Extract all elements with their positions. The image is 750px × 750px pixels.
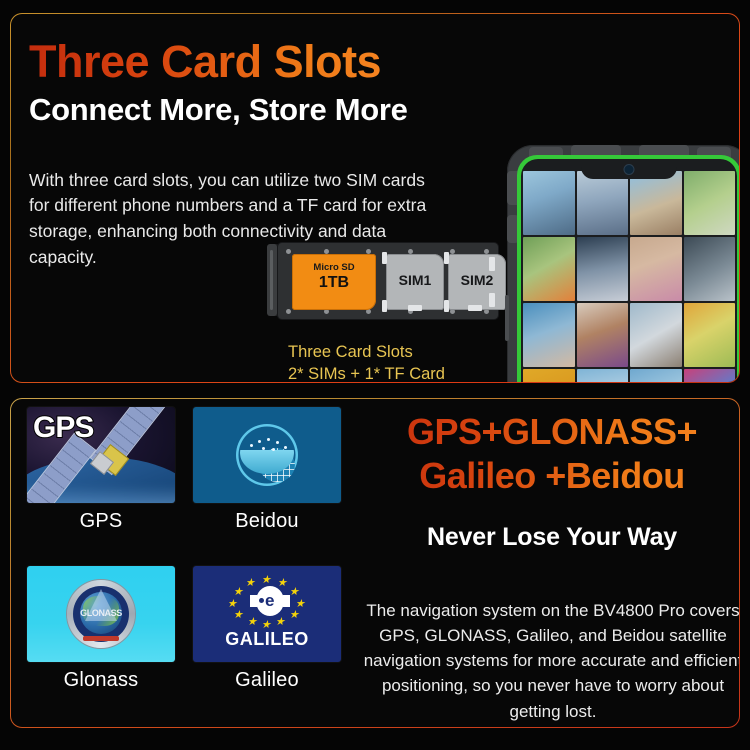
micro-sd-label: Micro SD bbox=[292, 262, 376, 273]
page-title: Three Card Slots bbox=[29, 36, 381, 88]
three-card-slots-panel: Three Card Slots Connect More, Store Mor… bbox=[10, 13, 740, 383]
glonass-logo-text: GLONASS bbox=[67, 608, 135, 618]
beidou-logo-image bbox=[193, 407, 341, 503]
nav-tile-beidou: Beidou bbox=[193, 407, 341, 533]
nav-tile-galileo: ★★★ ★★ ★★ ★★ ★★ ★ e GALILEO bbox=[193, 566, 341, 692]
page-subtitle: Connect More, Store More bbox=[29, 92, 408, 128]
navigation-description: The navigation system on the BV4800 Pro … bbox=[363, 598, 740, 724]
beidou-emblem-icon bbox=[236, 424, 298, 486]
galileo-logo-text: GALILEO bbox=[193, 629, 341, 650]
front-camera-icon bbox=[624, 164, 635, 175]
phone-product-image bbox=[507, 145, 740, 383]
nav-label-beidou: Beidou bbox=[193, 510, 341, 533]
navigation-heading-line1: GPS+GLONASS+ bbox=[363, 410, 740, 454]
nav-label-glonass: Glonass bbox=[27, 669, 175, 692]
galileo-satellite-icon: e bbox=[250, 586, 284, 616]
micro-sd-card: Micro SD 1TB bbox=[292, 254, 376, 310]
photo-gallery-grid bbox=[521, 171, 737, 383]
infographic-page: Three Card Slots Connect More, Store Mor… bbox=[0, 0, 750, 750]
glonass-emblem-icon: GLONASS bbox=[67, 580, 135, 648]
sim-tray-caption-line1: Three Card Slots bbox=[288, 342, 528, 364]
sim1-label: SIM1 bbox=[386, 272, 444, 288]
navigation-systems-panel: GPS GPS bbox=[10, 398, 740, 728]
sim-tray-caption-line2: 2* SIMs + 1* TF Card bbox=[288, 364, 528, 383]
navigation-heading: GPS+GLONASS+ Galileo +Beidou bbox=[363, 410, 740, 498]
nav-tile-glonass: GLONASS Glonass bbox=[27, 566, 175, 692]
nav-label-gps: GPS bbox=[27, 510, 175, 533]
phone-side-button bbox=[505, 295, 509, 341]
gps-logo-image: GPS bbox=[27, 407, 175, 503]
glonass-logo-image: GLONASS bbox=[27, 566, 175, 662]
sim1-card: SIM1 bbox=[386, 254, 444, 310]
micro-sd-capacity: 1TB bbox=[292, 274, 376, 292]
gps-logo-text: GPS bbox=[33, 411, 93, 445]
sim-tray-caption: Three Card Slots 2* SIMs + 1* TF Card bbox=[288, 342, 528, 383]
sim2-label: SIM2 bbox=[448, 272, 506, 288]
navigation-heading-line2: Galileo +Beidou bbox=[363, 454, 740, 498]
galileo-logo-image: ★★★ ★★ ★★ ★★ ★★ ★ e GALILEO bbox=[193, 566, 341, 662]
sim2-card: SIM2 bbox=[448, 254, 506, 310]
beidou-stars-icon bbox=[248, 438, 290, 452]
nav-tile-gps: GPS GPS bbox=[27, 407, 175, 533]
navigation-subheading: Never Lose Your Way bbox=[363, 523, 740, 552]
sim-tray-illustration: Micro SD 1TB SIM1 SIM2 bbox=[267, 242, 499, 320]
nav-label-galileo: Galileo bbox=[193, 669, 341, 692]
sim-tray-body: Micro SD 1TB SIM1 SIM2 bbox=[277, 242, 499, 320]
phone-screen bbox=[521, 159, 737, 383]
